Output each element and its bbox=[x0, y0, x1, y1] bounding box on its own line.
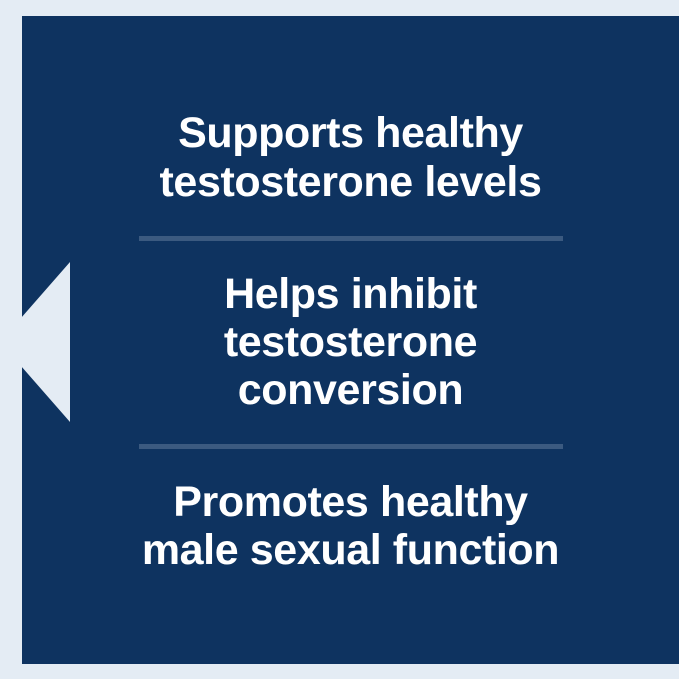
benefit-divider-1 bbox=[139, 236, 563, 241]
benefits-graphic: Supports healthy testosterone levels Hel… bbox=[0, 0, 679, 679]
benefit-item-1: Supports healthy testosterone levels bbox=[74, 109, 627, 205]
benefits-list: Supports healthy testosterone levels Hel… bbox=[22, 16, 679, 664]
benefit-item-2: Helps inhibit testosterone conversion bbox=[74, 270, 627, 414]
benefit-divider-2 bbox=[139, 444, 563, 449]
benefit-item-3: Promotes healthy male sexual function bbox=[74, 478, 627, 574]
